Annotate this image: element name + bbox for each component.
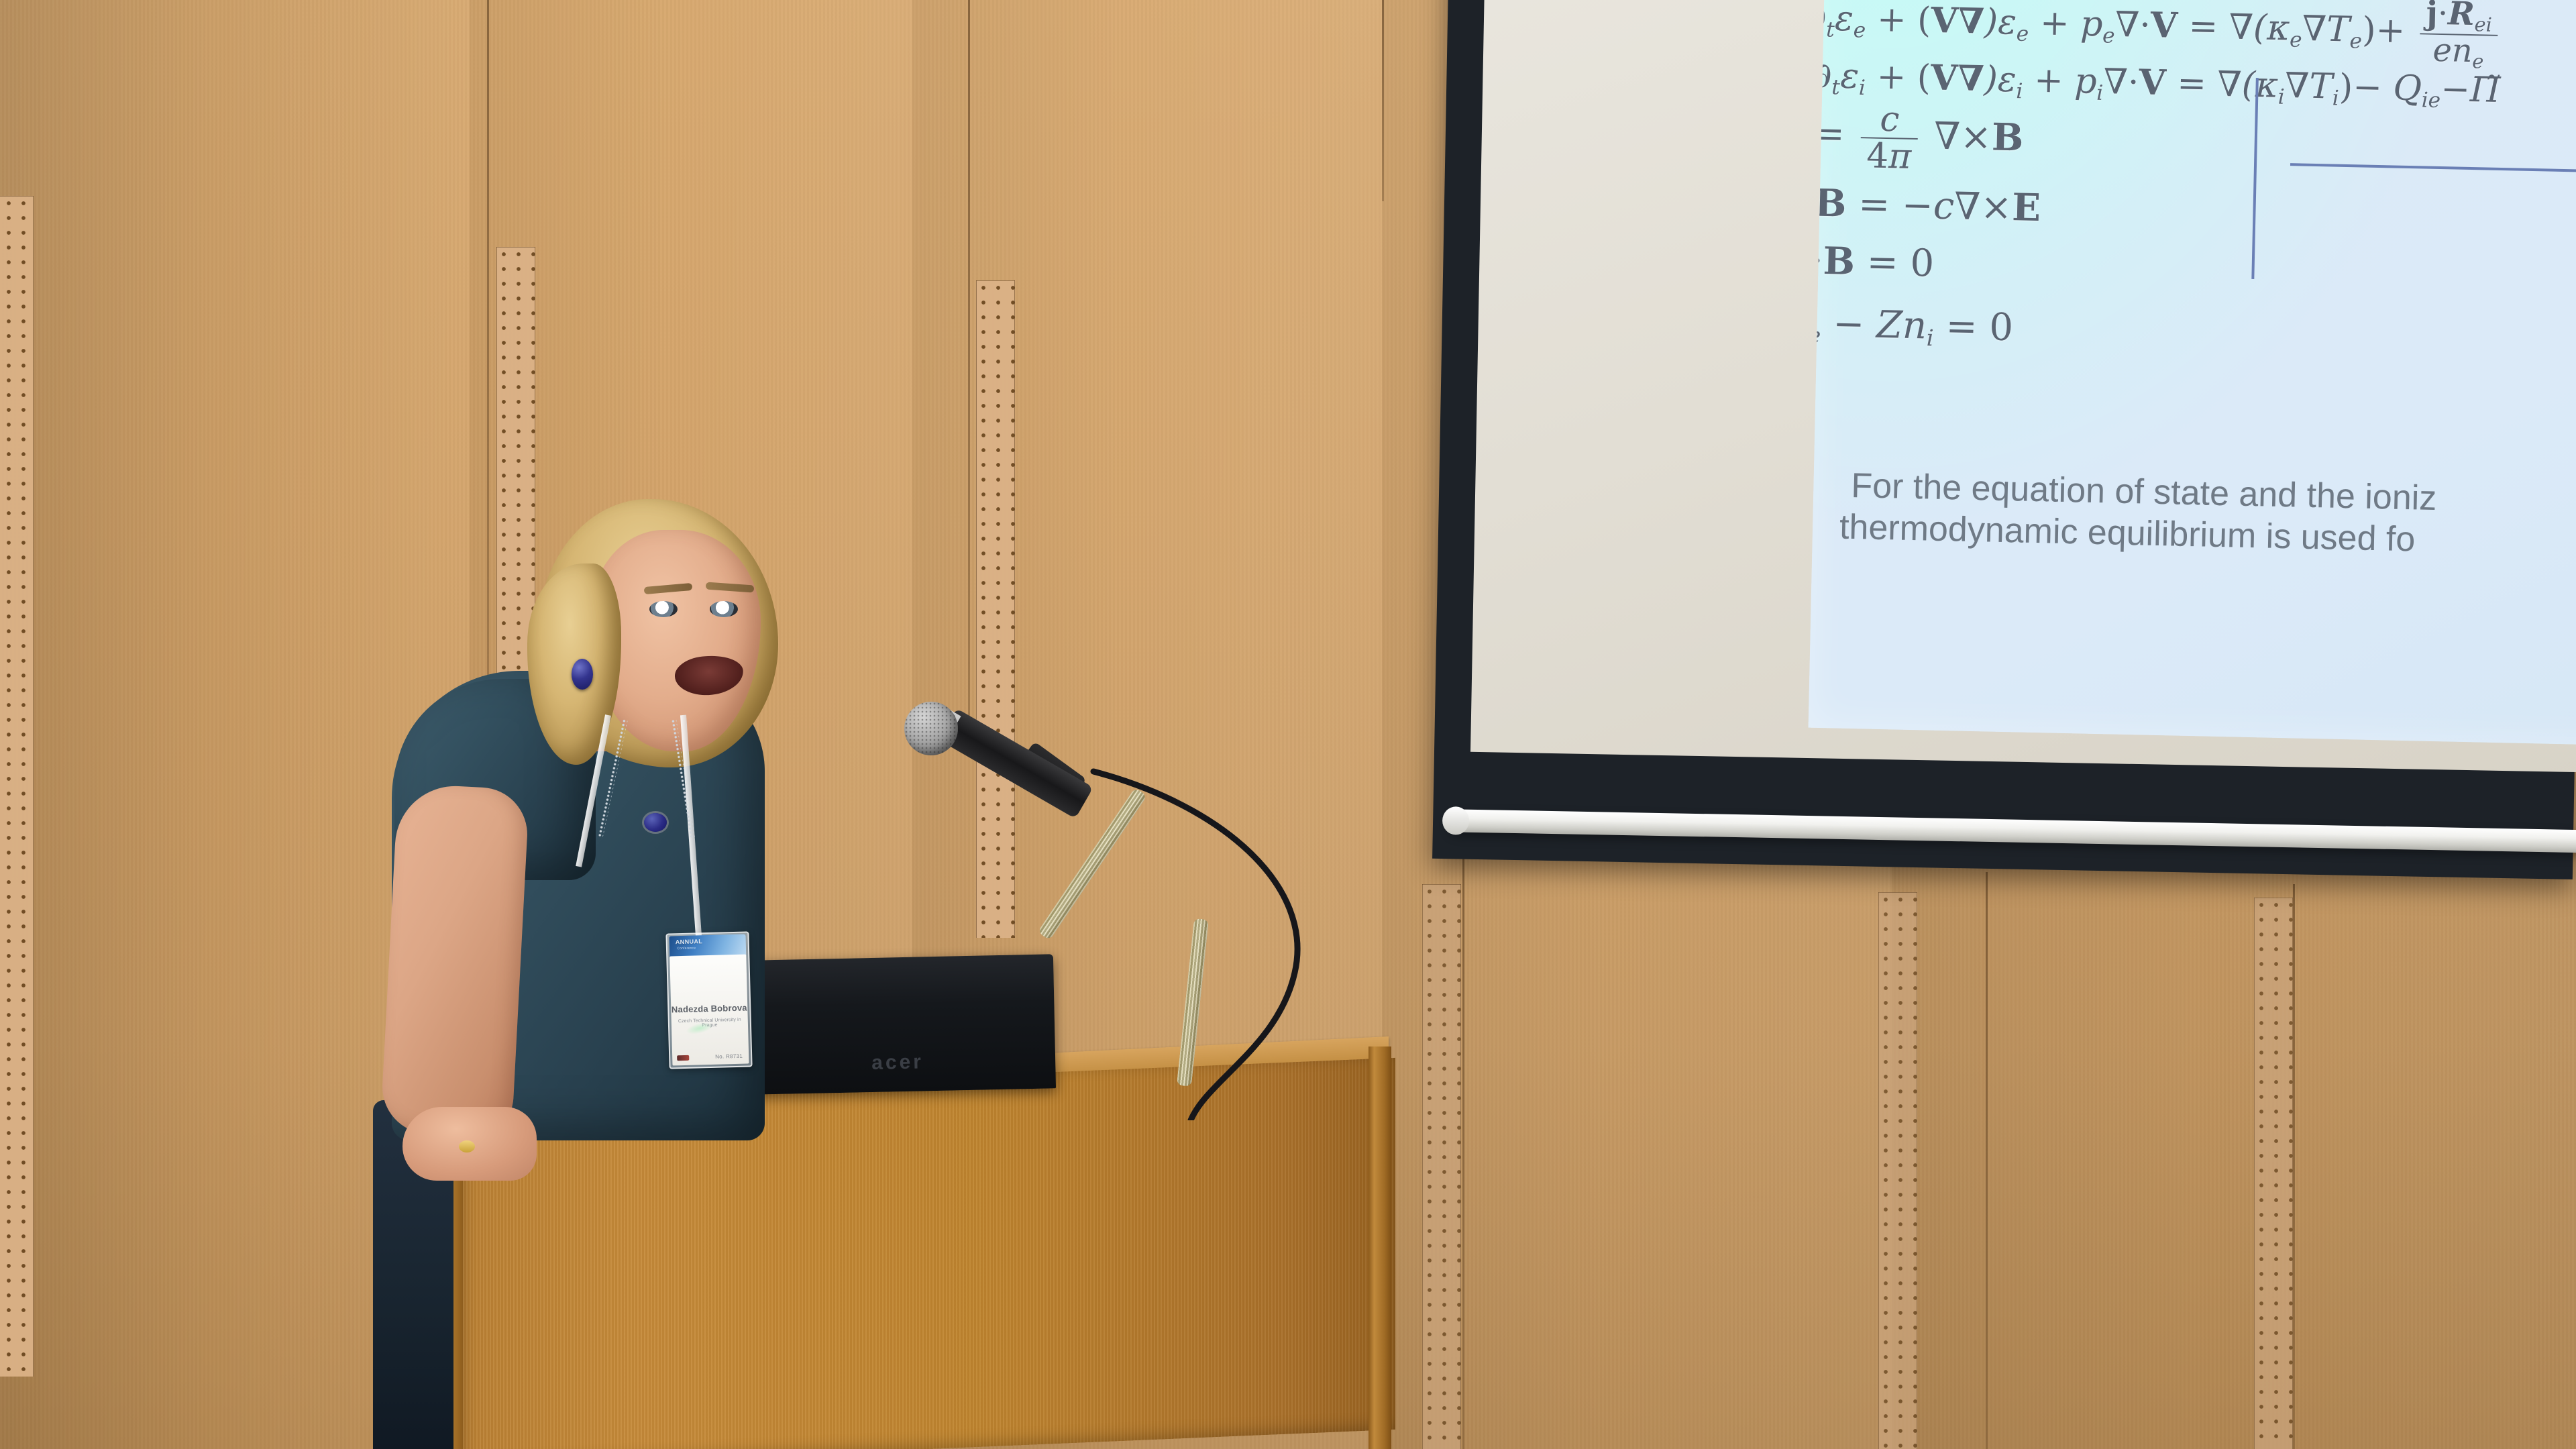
acoustic-perforated-strip [2254,898,2293,1449]
laptop-brand-logo: acer [871,1051,924,1075]
equation-no-magnetic-monopoles: ∇·B = 0 [1809,238,1935,286]
equation-faraday-law: ∂tB = −c∇×E [1809,180,2041,233]
wall-seam [1986,872,1988,1449]
wall-seam [487,0,489,731]
badge-card: Nadezda Bobrova Czech Technical Universi… [669,954,749,1065]
wall-seam [2293,884,2295,1449]
speaker-necklace-pendant [644,813,667,832]
acoustic-perforated-strip [1878,892,1917,1449]
acoustic-perforated-strip [0,196,34,1377]
microphone-mesh [904,702,958,755]
speaker-earring [572,659,593,690]
speaker-eye [649,601,678,617]
wall-seam [1382,0,1384,201]
photo-scene: ρ ∂tεe + (V∇)εe + pe∇·V = ∇(κe∇Te)+ j·Re… [0,0,2576,1449]
wall-seam [1462,859,1464,1449]
equation-ampere-law: j = c4π ∇×B [1809,100,2025,177]
badge-logo [677,1055,689,1061]
speaker-ring [459,1140,475,1152]
speaker-arm [380,783,530,1138]
wall-seam [968,0,970,721]
speaker-eye [710,601,738,617]
conference-badge[interactable]: ANNUAL Conference Nadezda Bobrova Czech … [665,931,752,1069]
microphone-head [904,702,958,755]
laptop-lid[interactable]: acer [751,954,1056,1094]
presentation-slide: ρ ∂tεe + (V∇)εe + pe∇·V = ∇(κe∇Te)+ j·Re… [1809,0,2576,745]
acoustic-perforated-strip [976,280,1015,938]
badge-header-subtitle: Conference [677,947,696,951]
badge-number: No. R8731 [715,1053,743,1060]
microphone-cable [1073,731,1449,1120]
slide-horizontal-rule [2290,163,2576,174]
equation-quasineutrality: ne − Zni = 0 [1809,301,2014,353]
badge-attendee-name: Nadezda Bobrova [671,1002,747,1014]
badge-header-title: ANNUAL [676,938,703,945]
